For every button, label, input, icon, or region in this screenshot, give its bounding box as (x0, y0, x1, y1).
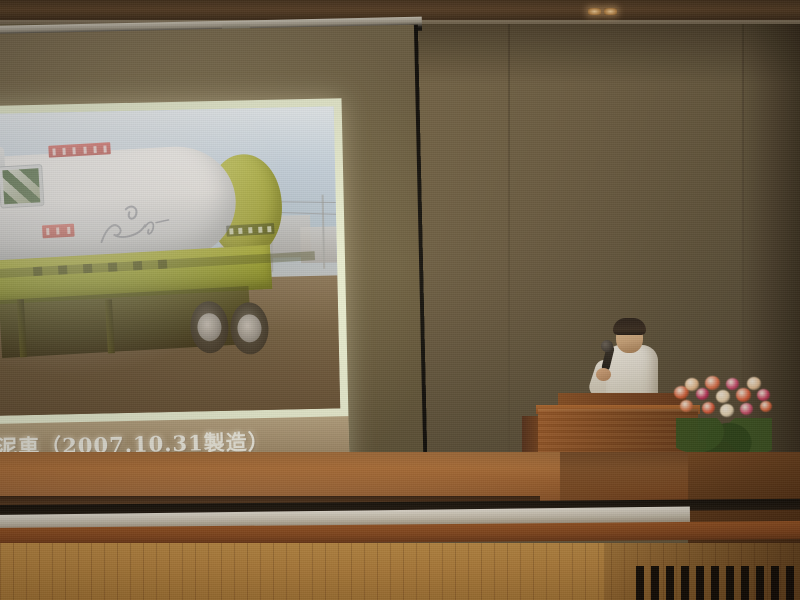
projected-slide: 吸泥車（2007.10.31製造） (0, 98, 350, 476)
ceiling-light-icon (604, 8, 617, 15)
flower-bloom (696, 388, 709, 400)
flower-bloom (680, 400, 693, 412)
vent-grille (636, 566, 800, 600)
flower-bloom (705, 376, 720, 390)
flower-bloom (757, 389, 770, 401)
photo-glare (0, 106, 340, 416)
flower-bloom (702, 402, 715, 414)
flower-bloom (740, 403, 753, 415)
projection-screen: 吸泥車（2007.10.31製造） (0, 25, 428, 520)
flower-bloom (736, 388, 751, 402)
slide-photo (0, 106, 340, 416)
flower-bloom (726, 378, 739, 390)
flower-arrangement (672, 372, 778, 430)
flower-bloom (760, 401, 772, 412)
flower-bloom (747, 377, 761, 390)
ceiling-light-icon (588, 8, 601, 15)
speaker-hand (596, 368, 611, 381)
flower-bloom (716, 390, 730, 403)
microphone-head-icon (601, 340, 613, 352)
flower-bloom (720, 404, 734, 417)
speaker-hair (613, 318, 646, 335)
presentation-photo-scene: 吸泥車（2007.10.31製造） (0, 0, 800, 600)
wall-seam (508, 24, 510, 452)
